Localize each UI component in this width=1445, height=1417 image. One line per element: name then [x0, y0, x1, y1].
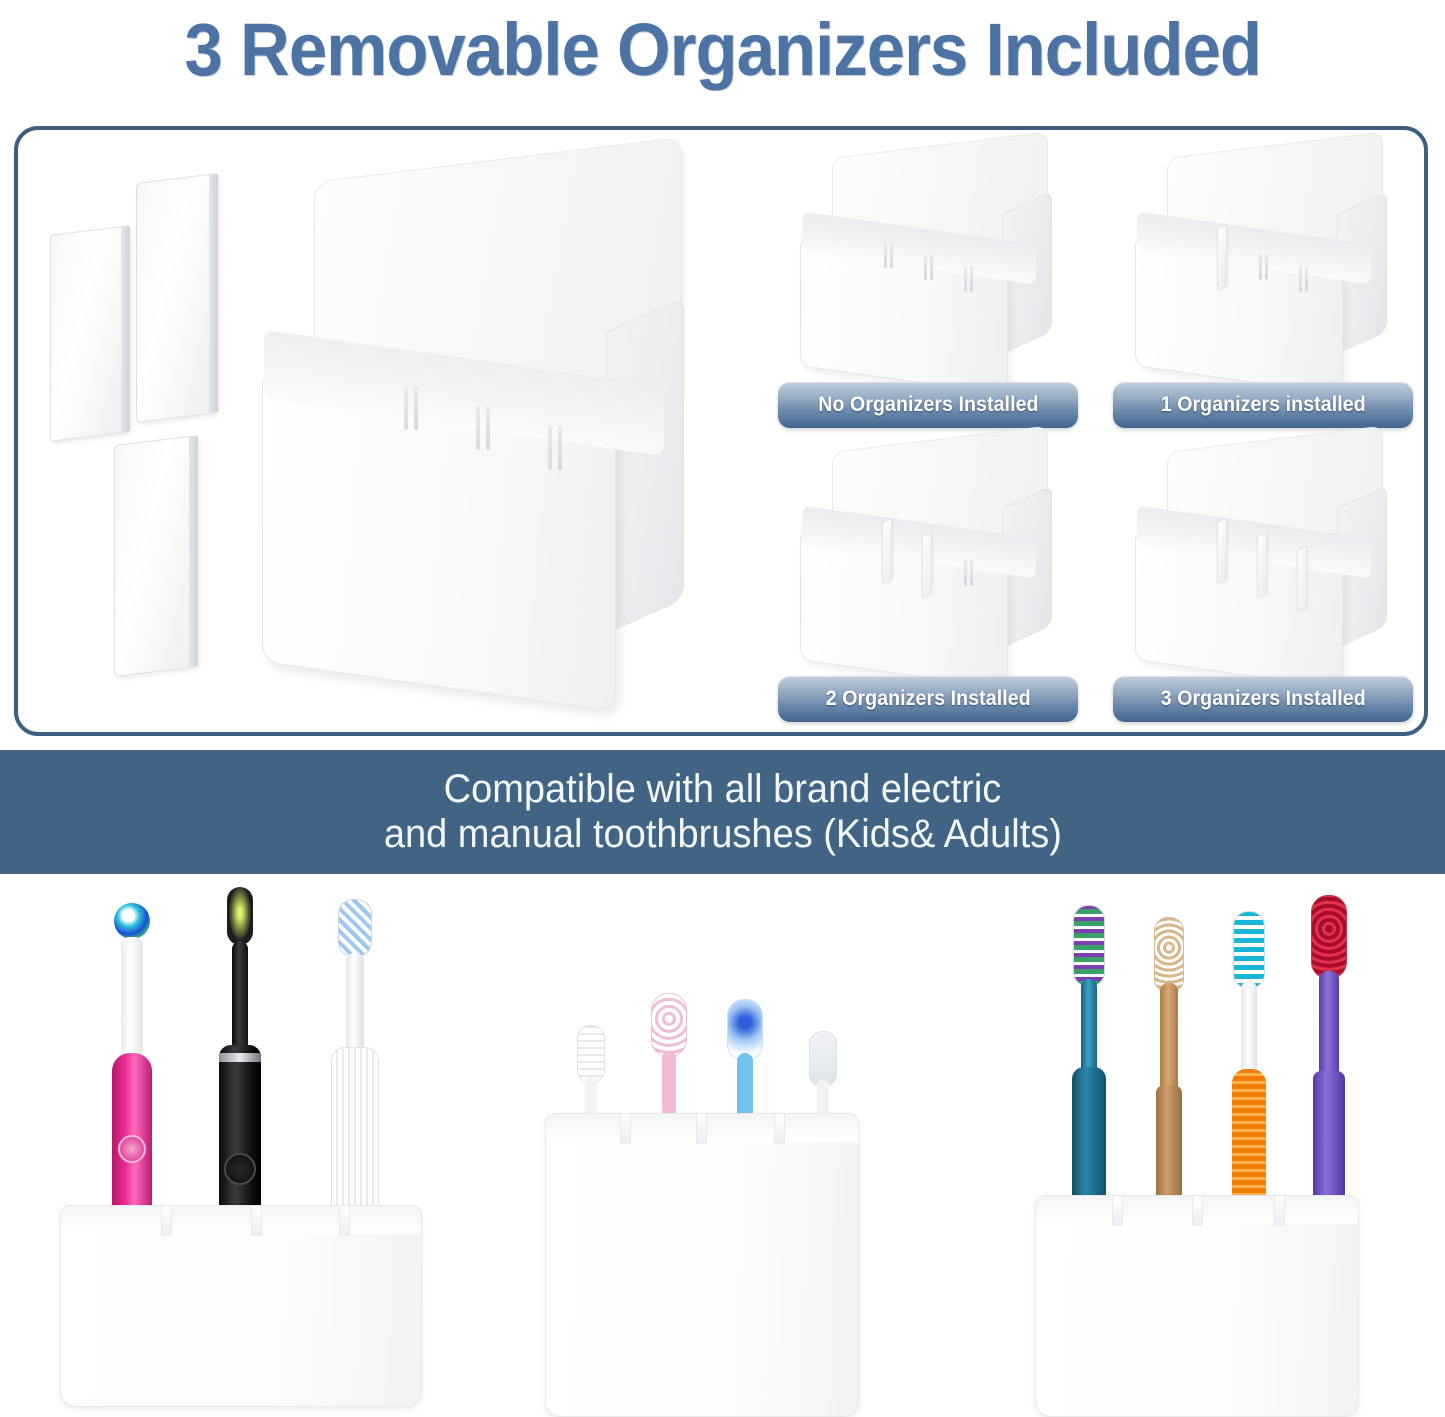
holder-slot-groove — [924, 254, 927, 280]
status-badge-label: 2 Organizers Installed — [825, 687, 1030, 711]
removable-divider-plate — [114, 435, 198, 677]
holder-divider-slot — [1112, 1196, 1123, 1226]
variant-holder-image — [796, 452, 1052, 664]
compatibility-banner: Compatible with all brand electric and m… — [0, 750, 1445, 874]
holder-slot-groove — [548, 426, 552, 471]
manual-brush-teal — [1061, 905, 1117, 1215]
power-button-icon — [118, 1135, 146, 1163]
status-badge-label: No Organizers Installed — [818, 393, 1038, 417]
holder-slot-groove — [1265, 254, 1268, 280]
chrome-ring — [219, 1053, 261, 1062]
brush-head — [727, 999, 763, 1061]
variant-2-organizers[interactable]: 2 Organizers Installed — [778, 452, 1078, 722]
toothbrush-holder — [1035, 1195, 1359, 1417]
holder-slot-groove — [414, 386, 418, 431]
holder-slot-groove — [558, 426, 562, 471]
variant-3-organizers[interactable]: 3 Organizers Installed — [1113, 452, 1413, 722]
holder-slot-groove — [486, 406, 490, 451]
holder-divider-slot — [774, 1114, 785, 1144]
installed-divider — [1217, 224, 1227, 290]
variant-holder-image — [796, 158, 1052, 370]
photo-electric-toothbrushes — [60, 885, 460, 1415]
holder-divider-slot — [251, 1206, 262, 1236]
brush-neck — [1319, 971, 1339, 1079]
manual-brush-orange — [1221, 911, 1277, 1215]
holder-slot-groove — [930, 254, 933, 280]
holder-slot-groove — [1299, 266, 1302, 292]
brush-neck — [1081, 979, 1097, 1075]
brush-head — [1311, 895, 1347, 979]
installed-divider — [922, 532, 932, 598]
brush-neck — [1160, 983, 1178, 1093]
holder-slot-groove — [964, 266, 967, 292]
brush-head — [1154, 917, 1184, 993]
holder-slot-groove — [884, 242, 887, 268]
brush-neck — [232, 941, 248, 1051]
holder-divider-slot — [1192, 1196, 1203, 1226]
plate-edge — [121, 226, 130, 432]
holder-slot-groove — [1259, 254, 1262, 280]
status-badge-label: 1 Organizers installed — [1160, 393, 1365, 417]
curaprox-brush-purple — [1299, 895, 1359, 1215]
installed-divider — [1217, 518, 1227, 584]
holder-slot-groove — [970, 560, 973, 586]
variant-1-organizer[interactable]: 1 Organizers installed — [1113, 158, 1413, 428]
brush-neck — [346, 953, 364, 1053]
holder-slot-groove — [890, 242, 893, 268]
brush-neck — [1241, 981, 1257, 1077]
brush-neck — [121, 937, 143, 1057]
holder-slot-groove — [1305, 266, 1308, 292]
toothbrush-holder — [60, 1205, 422, 1407]
removable-divider-plate — [50, 225, 130, 442]
power-button-icon — [224, 1153, 256, 1185]
toothbrush-holder-main — [254, 182, 684, 672]
installed-divider — [882, 518, 892, 584]
holder-slot-groove — [404, 386, 408, 431]
photo-manual-toothbrushes — [1035, 895, 1385, 1415]
brush-head — [651, 993, 687, 1057]
page-title-text: 3 Removable Organizers Included — [184, 13, 1260, 87]
status-badge: 2 Organizers Installed — [778, 676, 1078, 722]
holder-divider-slot — [620, 1114, 631, 1144]
status-badge: No Organizers Installed — [778, 382, 1078, 428]
holder-slot-groove — [964, 560, 967, 586]
variant-holder-image — [1131, 452, 1387, 664]
holder-slot-groove — [476, 406, 480, 451]
holder-right-side — [606, 297, 684, 634]
installed-divider — [1257, 532, 1267, 598]
brush-head — [338, 899, 372, 957]
holder-divider-slot — [161, 1206, 172, 1236]
photo-kids-toothbrushes — [545, 985, 885, 1415]
banner-line-2: and manual toothbrushes (Kids& Adults) — [383, 812, 1061, 857]
variant-holder-image — [1131, 158, 1387, 370]
brush-head — [577, 1025, 605, 1083]
holder-slot-groove — [970, 266, 973, 292]
brush-head — [227, 887, 253, 945]
brush-head — [1073, 905, 1105, 987]
page-title: 3 Removable Organizers Included — [0, 0, 1445, 100]
organizers-showcase-card: No Organizers Installed 1 Organizers ins… — [14, 126, 1428, 736]
status-badge: 3 Organizers Installed — [1113, 676, 1413, 722]
plate-edge — [189, 436, 198, 667]
status-badge-label: 3 Organizers Installed — [1160, 687, 1365, 711]
holder-divider-slot — [696, 1114, 707, 1144]
manual-brush-bamboo — [1141, 917, 1197, 1215]
banner-line-1: Compatible with all brand electric — [444, 767, 1002, 812]
toothbrush-holder — [545, 1113, 859, 1417]
removable-divider-plate — [136, 173, 218, 423]
brush-head — [1233, 911, 1265, 989]
brush-head — [114, 903, 150, 939]
status-badge: 1 Organizers installed — [1113, 382, 1413, 428]
holder-divider-slot — [339, 1206, 350, 1236]
brush-handle — [1313, 1071, 1345, 1215]
plate-edge — [209, 174, 218, 413]
holder-divider-slot — [1274, 1196, 1285, 1226]
variant-no-organizers[interactable]: No Organizers Installed — [778, 158, 1078, 428]
holder-top-rim — [61, 1206, 421, 1234]
installed-divider — [1297, 546, 1307, 612]
